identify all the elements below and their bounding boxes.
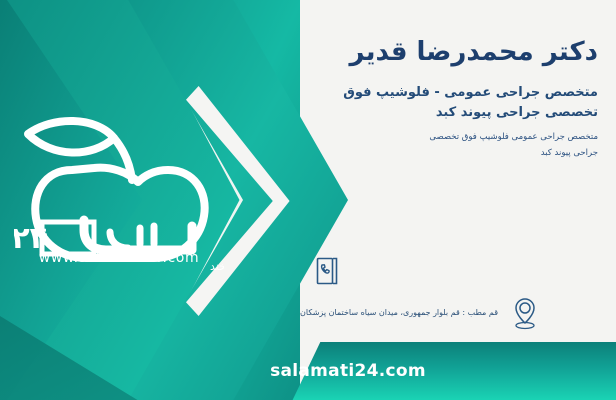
specialty-sub-line-1: متخصص جراحی عمومی فلوشیپ فوق تخصصی — [298, 130, 598, 146]
apple-leaf-icon — [28, 121, 114, 153]
contact-address-row: قم مطب : قم بلوار جمهوری، میدان سیاه ساخ… — [300, 294, 600, 332]
specialty-sub-line-2: جراحی پیوند کبد — [298, 146, 598, 162]
footer-bar: salamati24.com — [0, 342, 616, 400]
location-pin-icon — [508, 294, 542, 332]
contact-phone-row — [300, 252, 600, 290]
specialty-main-line-1: متخصص جراحی عمومی - فلوشیپ فوق — [298, 83, 598, 103]
phone-book-icon — [310, 252, 344, 290]
doctor-specialty-main: متخصص جراحی عمومی - فلوشیپ فوق تخصصی جرا… — [298, 83, 598, 123]
doctor-info-block: دکتر محمدرضا قدیر متخصص جراحی عمومی - فل… — [298, 36, 598, 161]
business-card: ۲۴ براحتی یک لبخند www.salamati24.com دک… — [0, 0, 616, 400]
specialty-main-line-2: تخصصی جراحی پیوند کبد — [298, 103, 598, 123]
contact-address-text: قم مطب : قم بلوار جمهوری، میدان سیاه ساخ… — [300, 307, 498, 319]
doctor-name: دکتر محمدرضا قدیر — [298, 36, 598, 69]
logo-website: www.salamati24.com — [14, 250, 224, 266]
footer-website[interactable]: salamati24.com — [0, 342, 616, 400]
logo-script-mim — [110, 232, 128, 248]
doctor-specialty-sub: متخصص جراحی عمومی فلوشیپ فوق تخصصی جراحی… — [298, 130, 598, 161]
